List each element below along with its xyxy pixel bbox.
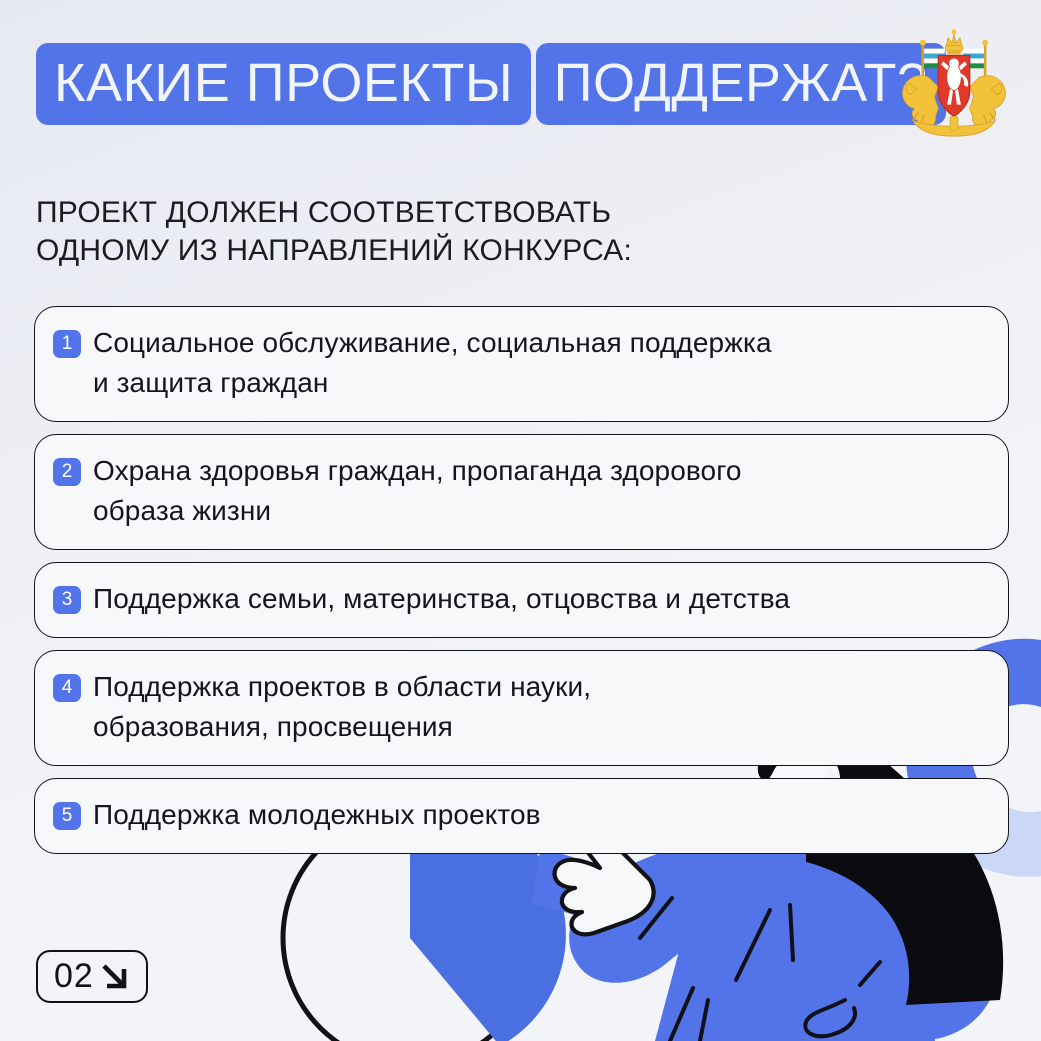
list-item-number: 2 (53, 458, 81, 486)
list-item-label: Поддержка проектов в области науки, обра… (93, 667, 591, 747)
subtitle-text: ПРОЕКТ ДОЛЖЕН СООТВЕТСТВОВАТЬ ОДНОМУ ИЗ … (36, 194, 632, 270)
list-item[interactable]: 2 Охрана здоровья граждан, пропаганда зд… (34, 434, 1009, 550)
title-line-1: КАКИЕ ПРОЕКТЫ (36, 43, 531, 125)
list-item[interactable]: 1 Социальное обслуживание, социальная по… (34, 306, 1009, 422)
list-item-label: Поддержка семьи, материнства, отцовства … (93, 579, 790, 619)
list-item-number: 4 (53, 674, 81, 702)
page-number-badge: 02 (36, 950, 148, 1003)
list-item-number: 5 (53, 802, 81, 830)
list-item-label: Охрана здоровья граждан, пропаганда здор… (93, 451, 742, 531)
directions-list: 1 Социальное обслуживание, социальная по… (34, 306, 1009, 854)
coat-of-arms-icon (895, 26, 1013, 144)
arrow-down-right-icon (98, 959, 132, 993)
list-item[interactable]: 4 Поддержка проектов в области науки, об… (34, 650, 1009, 766)
list-item-number: 3 (53, 586, 81, 614)
list-item-label: Социальное обслуживание, социальная подд… (93, 323, 772, 403)
page-title: КАКИЕ ПРОЕКТЫ ПОДДЕРЖАТ? (36, 34, 946, 125)
list-item-label: Поддержка молодежных проектов (93, 795, 541, 835)
list-item[interactable]: 3 Поддержка семьи, материнства, отцовств… (34, 562, 1009, 638)
list-item-number: 1 (53, 330, 81, 358)
page-number: 02 (54, 959, 94, 993)
title-line-2: ПОДДЕРЖАТ? (536, 43, 946, 125)
list-item[interactable]: 5 Поддержка молодежных проектов (34, 778, 1009, 854)
infographic-poster: КАКИЕ ПРОЕКТЫ ПОДДЕРЖАТ? (0, 0, 1041, 1041)
